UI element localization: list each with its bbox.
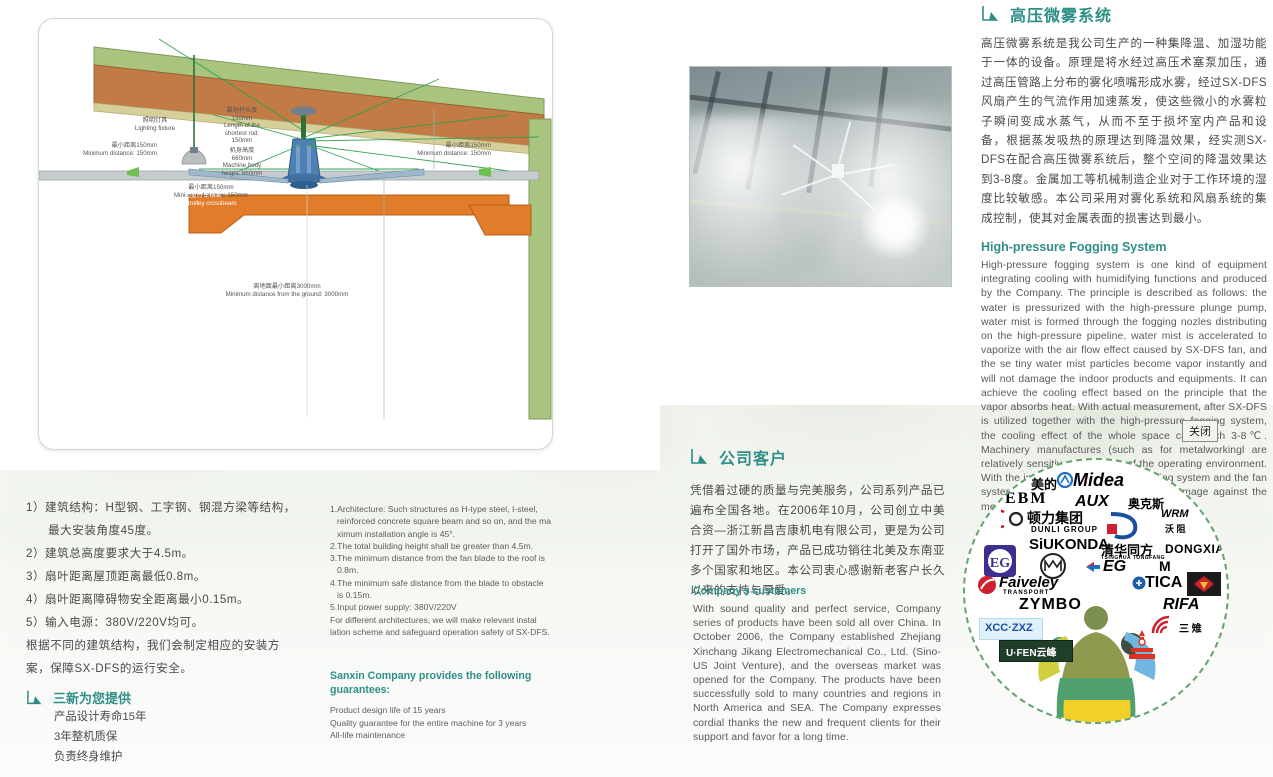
diagram-label-min-distance-left-cn: 最小距离150mm (38, 142, 157, 150)
provide-item-3: 负责终身维护 (26, 747, 326, 767)
diagram-label-min-distance-mid-cn: 最小距离150mm (121, 184, 301, 192)
logo-sanwei: 三 雉 (1179, 620, 1202, 635)
logo-tica: TICA (1145, 574, 1182, 592)
diagram-label-shortest-rod: 最短杆长度 150mm Length of the shortest rod: … (194, 107, 290, 145)
spec-cn-1b: 最大安装角度45度。 (26, 519, 326, 542)
diagram-label-min-distance-right: 最小距离150mm Minimum distance: 150mm (339, 142, 491, 157)
logo-midea: Midea (1073, 470, 1124, 491)
spec-en-note-1: For different architectures, we will mak… (330, 614, 562, 626)
diagram-label-machine-body-en2: height: 660mm (194, 170, 290, 178)
diagram-label-lighting-fixture: 照明灯具 Lighting fixture (115, 117, 195, 132)
customers-body-en: With sound quality and perfect service, … (693, 603, 941, 745)
spec-en-3b: 0.8m. (330, 564, 562, 576)
spec-en-4: 4.The minimum safe distance from the bla… (330, 577, 562, 589)
customers-section-en: Company's customers With sound quality a… (693, 585, 941, 745)
arrow-down-right-icon (981, 4, 1003, 24)
guarantees-title-line2: guarantees: (330, 683, 562, 697)
logo-rifa: RIFA (1163, 596, 1199, 614)
tsinghua-tongfang-mark-icon (1105, 510, 1141, 542)
installation-diagram-card: 最短杆长度 150mm Length of the shortest rod: … (38, 18, 553, 450)
spec-en-5: 5.Input power supply: 380V/220V (330, 601, 562, 613)
logo-gree: EG (1103, 558, 1126, 576)
fogging-system-title-en: High-pressure Fogging System (981, 240, 1267, 254)
midea-mark-icon (1057, 472, 1073, 488)
diagram-label-lighting-fixture-cn: 照明灯具 (115, 117, 195, 125)
guarantee-item-2: Quality guarantee for the entire machine… (330, 717, 562, 730)
diagram-label-min-distance-right-en: Minimum distance: 150mm (339, 150, 491, 158)
spec-cn-note-1: 根据不同的建筑结构，我们会制定相应的安装方 (26, 634, 326, 657)
diagram-label-shortest-rod-cn: 最短杆长度 (194, 107, 290, 115)
customers-section-cn: 公司客户 凭借着过硬的质量与完美服务，公司系列产品已遍布全国各地。在2006年1… (690, 445, 945, 601)
fogging-system-photo (689, 66, 952, 287)
diagram-label-crane-beam-cn: 起重行车横梁 (141, 192, 265, 200)
logo-xcc-zxz-badge: XCC·ZXZ (979, 618, 1043, 640)
logo-dongxia: DONGXIA (1165, 542, 1225, 556)
diagram-label-shortest-rod-en2: shortest rod: (194, 130, 290, 138)
logo-zymbo: ZYMBO (1019, 596, 1082, 614)
spec-en-1c: ximum installation angle is 45°. (330, 528, 562, 540)
close-button[interactable]: 关闭 (1182, 420, 1218, 442)
tica-mark-icon (1132, 576, 1146, 590)
spec-cn-2: 2）建筑总高度要求大于4.5m。 (26, 542, 326, 565)
guarantees-section: Sanxin Company provides the following gu… (330, 669, 562, 742)
spec-cn-5: 5）输入电源：380V/220V均可。 (26, 611, 326, 634)
provide-item-2: 3年整机质保 (26, 727, 326, 747)
spec-cn-3: 3）扇叶距离屋顶距离最低0.8m。 (26, 565, 326, 588)
svg-text:EG: EG (990, 556, 1010, 571)
diagram-label-shortest-rod-en1: Length of the (194, 122, 290, 130)
photo-mist (789, 106, 952, 287)
spec-en-2: 2.The total building height shall be gre… (330, 540, 562, 552)
customers-heading-cn: 公司客户 (690, 445, 945, 469)
photo-light-flare (860, 190, 930, 260)
installation-diagram-svg (39, 19, 552, 449)
customers-title-cn: 公司客户 (719, 445, 787, 469)
diagram-label-shortest-rod-en3: 150mm (194, 137, 290, 145)
logo-dunli-group: DUNLI GROUP (1031, 525, 1098, 534)
logo-ebm: EBM (1005, 490, 1047, 508)
guarantees-title-line1: Sanxin Company provides the following (330, 669, 562, 683)
logo-wozu: 沃 阻 (1165, 522, 1186, 535)
logo-gree-cn: M (1159, 558, 1171, 574)
logo-ufen: U·FEN云峰 (1006, 644, 1057, 659)
spec-cn-1: 1）建筑结构：H型钢、工字钢、钢混方梁等结构， (26, 496, 326, 519)
spec-en-4b: is 0.15m. (330, 589, 562, 601)
fogging-system-section: 高压微雾系统 高压微雾系统是我公司生产的一种集降温、加湿功能于一体的设备。原理是… (981, 0, 1267, 515)
diagram-label-min-distance-left: 最小距离150mm Minimum distance: 150mm (38, 142, 157, 157)
spec-cn-4: 4）扇叶距离障碍物安全距离最小0.15m。 (26, 588, 326, 611)
diagram-label-machine-body-en1: Machine body (194, 162, 290, 170)
guarantee-item-1: Product design life of 15 years (330, 704, 562, 717)
dunli-mark-icon (1001, 508, 1023, 530)
spec-en-1: 1.Architecture: Such structures as H-typ… (330, 503, 562, 515)
diagram-label-machine-body-value: 660mm (194, 155, 290, 163)
diagram-label-ground-distance: 离地面最小距离3000mm Minimum distance from the … (187, 283, 387, 298)
diagram-label-crane-beam: 起重行车横梁 Crane trolley crossbeam (141, 192, 265, 207)
spec-en-note-2: lation scheme and safeguard operation sa… (330, 626, 562, 638)
faiveley-mark-icon (977, 575, 997, 595)
diagram-label-lighting-fixture-en: Lighting fixture (115, 125, 195, 133)
spec-en-1b: reinforced concrete square beam and so o… (330, 515, 562, 527)
provide-title-text: 三新为您提供 (53, 688, 131, 707)
customers-body-cn: 凭借着过硬的质量与完美服务，公司系列产品已遍布全国各地。在2006年10月，公司… (690, 481, 945, 601)
arrow-down-right-icon (690, 447, 712, 467)
diagram-label-crane-beam-en: Crane trolley crossbeam (141, 200, 265, 208)
diagram-label-machine-body-cn: 机身高度 (194, 147, 290, 155)
provide-item-1: 产品设计寿命15年 (26, 707, 326, 727)
logo-worm: WRM (1161, 508, 1189, 520)
logo-faiveley: Faiveley (999, 574, 1058, 591)
tower-mark-icon (1127, 628, 1157, 662)
guarantee-item-3: All-life maintenance (330, 729, 562, 742)
arrow-down-right-icon (26, 689, 46, 707)
fogging-system-heading: 高压微雾系统 (981, 0, 1267, 26)
brand-badge-icon (1187, 572, 1221, 596)
customers-title-en: Company's customers (693, 585, 941, 597)
logo-xcc-zxz: XCC·ZXZ (985, 622, 1033, 634)
diagram-label-machine-body: 机身高度 660mm Machine body height: 660mm (194, 147, 290, 177)
specifications-en: 1.Architecture: Such structures as H-typ… (330, 503, 562, 638)
diagram-label-ground-distance-cn: 离地面最小距离3000mm (187, 283, 387, 291)
fogging-system-body-cn: 高压微雾系统是我公司生产的一种集降温、加湿功能于一体的设备。原理是将水经过高压术… (981, 34, 1267, 228)
diagram-label-ground-distance-en: Minimum distance from the ground: 3000mm (187, 291, 387, 299)
provide-heading: 三新为您提供 (26, 688, 326, 707)
customer-logos-circle: 美的 Midea EBM AUX 奥克斯 WRM 沃 阻 顿力集团 DUNLI … (963, 458, 1229, 724)
fogging-system-title-cn: 高压微雾系统 (1010, 2, 1112, 26)
spec-en-3: 3.The minimum distance from the fan blad… (330, 552, 562, 564)
spec-cn-note-2: 案，保障SX-DFS的运行安全。 (26, 657, 326, 680)
logo-ufen-badge: U·FEN云峰 (999, 640, 1073, 662)
diagram-label-min-distance-right-cn: 最小距离150mm (339, 142, 491, 150)
gree-mark-icon (1085, 560, 1101, 574)
specifications-cn: 1）建筑结构：H型钢、工字钢、钢混方梁等结构， 最大安装角度45度。 2）建筑总… (26, 496, 326, 767)
diagram-label-shortest-rod-value: 150mm (194, 115, 290, 123)
diagram-label-min-distance-left-en: Minimum distance: 150mm (38, 150, 157, 158)
eg-mark-icon: EG (983, 544, 1017, 578)
logo-siukonda: SiUKONDA (1029, 536, 1109, 553)
